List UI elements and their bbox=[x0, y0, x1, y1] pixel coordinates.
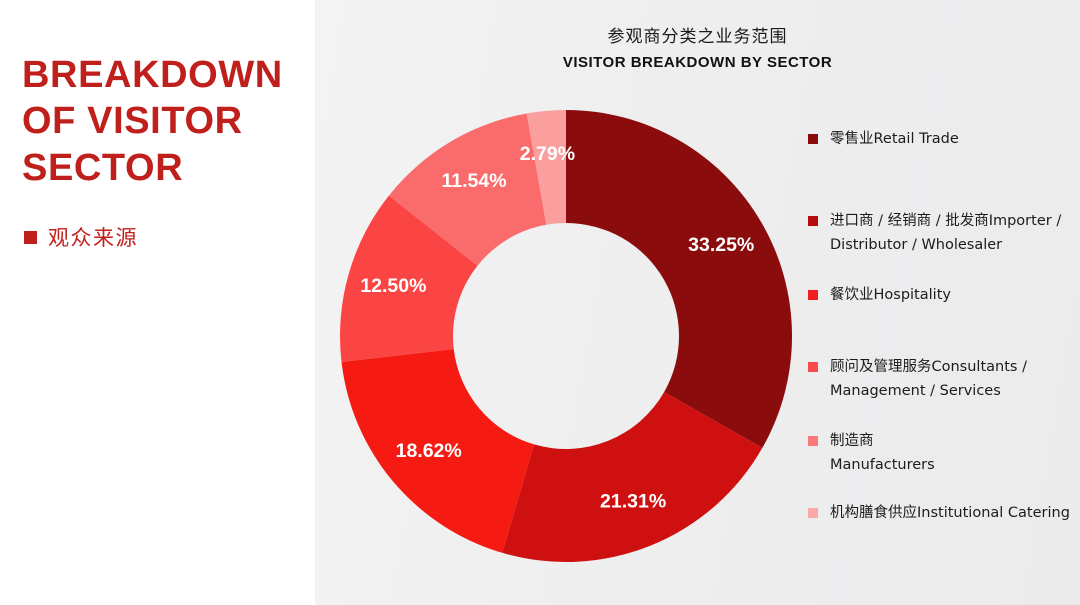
donut-slice-label: 21.31% bbox=[600, 491, 666, 513]
legend-item[interactable]: 零售业Retail Trade bbox=[808, 128, 959, 152]
legend-swatch-icon bbox=[808, 134, 818, 144]
donut-slice-label: 18.62% bbox=[396, 440, 462, 462]
legend-item[interactable]: 餐饮业Hospitality bbox=[808, 284, 951, 308]
chart-panel: 参观商分类之业务范围 VISITOR BREAKDOWN BY SECTOR 3… bbox=[315, 0, 1080, 605]
donut-slice-label: 11.54% bbox=[442, 170, 507, 192]
donut-chart: 33.25%21.31%18.62%12.50%11.54%2.79% bbox=[340, 110, 792, 562]
page-title-line-2: OF VISITOR bbox=[22, 98, 307, 144]
donut-slice[interactable] bbox=[566, 110, 792, 448]
legend-item-label: 制造商 bbox=[830, 430, 935, 454]
chart-title: 参观商分类之业务范围 VISITOR BREAKDOWN BY SECTOR bbox=[315, 22, 1080, 71]
legend-swatch-icon bbox=[808, 290, 818, 300]
square-bullet-icon bbox=[24, 231, 37, 244]
donut-slice-group bbox=[340, 110, 792, 562]
legend-item[interactable]: 制造商Manufacturers bbox=[808, 430, 935, 478]
legend-item-label: Manufacturers bbox=[830, 454, 935, 478]
left-title-panel: BREAKDOWN OF VISITOR SECTOR 观众来源 bbox=[0, 0, 315, 605]
legend-item[interactable]: 顾问及管理服务Consultants /Management / Service… bbox=[808, 356, 1027, 404]
legend-swatch-icon bbox=[808, 216, 818, 226]
slide-root: BREAKDOWN OF VISITOR SECTOR 观众来源 参观商分类之业… bbox=[0, 0, 1080, 605]
legend-item[interactable]: 机构膳食供应Institutional Catering bbox=[808, 502, 1070, 526]
legend-swatch-icon bbox=[808, 508, 818, 518]
page-title-line-1: BREAKDOWN bbox=[22, 52, 307, 98]
legend-item-label: 顾问及管理服务Consultants / bbox=[830, 356, 1027, 380]
donut-slice-label: 2.79% bbox=[520, 143, 575, 165]
legend-item-label: 零售业Retail Trade bbox=[830, 128, 959, 152]
legend-swatch-icon bbox=[808, 436, 818, 446]
chart-title-cn: 参观商分类之业务范围 bbox=[315, 22, 1080, 47]
donut-slice-label: 33.25% bbox=[688, 234, 754, 256]
chart-title-en: VISITOR BREAKDOWN BY SECTOR bbox=[315, 54, 1080, 71]
legend-swatch-icon bbox=[808, 362, 818, 372]
legend-item-label: 机构膳食供应Institutional Catering bbox=[830, 502, 1070, 526]
legend-item-label: Management / Services bbox=[830, 380, 1027, 404]
legend-item-label: 进口商 / 经销商 / 批发商Importer / bbox=[830, 210, 1061, 234]
donut-slice-label: 12.50% bbox=[360, 275, 426, 297]
legend-item-label: 餐饮业Hospitality bbox=[830, 284, 951, 308]
page-title-line-3: SECTOR bbox=[22, 145, 307, 191]
page-title: BREAKDOWN OF VISITOR SECTOR bbox=[22, 52, 307, 191]
legend-item-label: Distributor / Wholesaler bbox=[830, 234, 1061, 258]
legend-item[interactable]: 进口商 / 经销商 / 批发商Importer /Distributor / W… bbox=[808, 210, 1061, 258]
page-subtitle-label: 观众来源 bbox=[48, 222, 138, 252]
page-subtitle: 观众来源 bbox=[24, 222, 138, 252]
donut-chart-svg: 33.25%21.31%18.62%12.50%11.54%2.79% bbox=[340, 110, 792, 562]
